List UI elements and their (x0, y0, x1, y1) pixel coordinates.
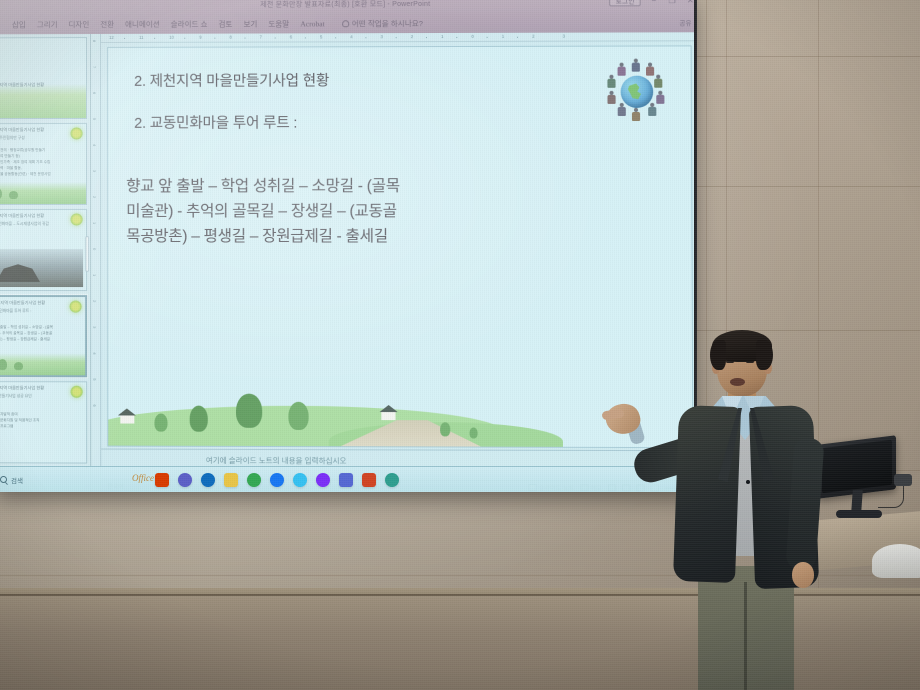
cable (878, 486, 904, 508)
thumb-title: 1. 제천지역 마을만들기사업 현황 (0, 82, 70, 88)
tell-me-search[interactable]: 어떤 작업을 하시나요? (342, 18, 423, 29)
vruler-tick: 4 (92, 352, 97, 354)
tab-transitions[interactable]: 전환 (100, 18, 114, 29)
globe-with-people-icon (605, 61, 668, 124)
thumb-line-3: 목공방촌) – 평생길 – 장원급제길 - 출세길 (0, 337, 77, 343)
notes-placeholder: 여기에 슬라이드 노트의 내용을 입력하십시오 (206, 455, 347, 466)
office-logo-icon[interactable]: Office (132, 473, 146, 487)
teams-icon[interactable] (178, 473, 192, 487)
vruler-tick: 1 (92, 222, 97, 224)
tab-acrobat[interactable]: Acrobat (300, 19, 324, 28)
thumb-line-2: 미술관) - 추억의 골목길 – 장생길 – (교동골 (0, 331, 77, 337)
kakao-icon[interactable] (316, 473, 330, 487)
spiral-icon[interactable] (385, 473, 399, 487)
presenter-jacket-left (673, 405, 741, 583)
vruler-tick: 2 (92, 300, 97, 302)
office-icon[interactable] (155, 473, 169, 487)
vruler-tick: 7 (92, 66, 97, 68)
taskbar-search[interactable]: 검색 (0, 475, 90, 485)
vruler-tick: 6 (92, 92, 97, 94)
thumb-line-2: · 주민 참여 만들기 등) (0, 154, 78, 160)
thumb-line-3: · 주민 대인가족 · 제조 참여 계획 기초 수립 (0, 160, 78, 166)
body-line-2: 미술관) - 추억의 골목길 – 장생길 – (교동골 (126, 199, 665, 224)
window-title: 제천 문화만장 발표자료(최종) [호환 모드] - PowerPoint (260, 0, 430, 9)
thumb-subtitle: 2. 교동민화마을 투어 루트 : (0, 309, 71, 315)
thumb-photo (0, 249, 83, 287)
presenter-leg-seam (744, 582, 747, 690)
hruler-tick: 3 (563, 34, 565, 39)
hruler-tick: 1 (502, 34, 504, 39)
hruler-tick: 2 (411, 34, 413, 39)
presenter-hair-side-right (756, 340, 773, 370)
hruler-tick: 12 (109, 35, 114, 40)
powerpoint-icon[interactable] (362, 473, 376, 487)
slide-canvas[interactable]: 2. 제천지역 마을만들기사업 현황 2. 교동민화마을 투어 루트 : 향교 … (107, 45, 693, 448)
thumb-subtitle: 3. 마을만들기사업 성공 요인 (0, 394, 72, 400)
thumbnail-scrollbar[interactable] (85, 236, 89, 272)
conference-room-scene: 제천 문화만장 발표자료(최종) [호환 모드] - PowerPoint 로그… (0, 0, 920, 690)
vertical-ruler: 8 7 6 5 4 3 2 1 0 1 2 3 4 5 6 (91, 34, 101, 492)
camera-device (894, 474, 912, 486)
hruler-tick: 0 (471, 34, 473, 39)
hruler-tick: 1 (441, 34, 443, 39)
tab-view[interactable]: 보기 (243, 18, 257, 29)
vruler-tick: 4 (92, 144, 97, 146)
hruler-tick: 7 (260, 35, 262, 40)
slide-subtitle[interactable]: 2. 교동민화마을 투어 루트 : (134, 112, 297, 133)
file-explorer-icon[interactable] (224, 473, 238, 487)
projection-screen: 제천 문화만장 발표자료(최종) [호환 모드] - PowerPoint 로그… (0, 0, 694, 492)
taskbar-icon-row: Office (90, 473, 399, 487)
thumb-title: 2. 제천지역 마을만들기사업 현황 (0, 385, 70, 391)
thumb-subtitle: 1. 교동민화마을 – 도시재생사업의 귀감 (0, 222, 72, 228)
thumb-subtitle: 1. 마을 주민협의만 구성 (0, 136, 72, 142)
hruler-tick: 3 (381, 34, 383, 39)
slide-body-text[interactable]: 향교 앞 출발 – 학업 성취길 – 소망길 - (골목 미술관) - 추억의 … (126, 173, 665, 249)
lightbulb-icon (342, 20, 349, 27)
tell-me-placeholder: 어떤 작업을 하시나요? (352, 18, 423, 29)
editor-work-area: 1. 제천지역 마을만들기사업 현황 1. 제천지역 마을만들기사업 현황 1.… (0, 32, 694, 492)
thumbnail-slide-2[interactable]: 1. 제천지역 마을만들기사업 현황 1. 마을 주민협의만 구성 · 마을 발… (0, 123, 87, 205)
tab-design[interactable]: 디자인 (69, 19, 90, 30)
sign-in-button[interactable]: 로그인 (610, 0, 641, 6)
thumbnail-slide-4[interactable]: 2. 제천지역 마을만들기사업 현황 2. 교동민화마을 투어 루트 : 향교 … (0, 295, 87, 377)
thumb-illustration (0, 84, 86, 118)
powerpoint-window: 제천 문화만장 발표자료(최종) [호환 모드] - PowerPoint 로그… (0, 0, 694, 492)
slide-title[interactable]: 2. 제천지역 마을만들기사업 현황 (134, 69, 329, 90)
tab-help[interactable]: 도움말 (268, 18, 289, 29)
vruler-tick: 2 (92, 196, 97, 198)
thumb-line-1: · 주민의 자발적 참여 (0, 412, 78, 418)
hruler-tick: 4 (350, 34, 352, 39)
slide-edit-region: 12 11 10 9 8 7 6 5 4 3 2 1 0 1 2 (101, 32, 694, 492)
presenter (640, 330, 870, 690)
share-button[interactable]: 공유 (679, 17, 691, 27)
slide-thumbnail-pane[interactable]: 1. 제천지역 마을만들기사업 현황 1. 제천지역 마을만들기사업 현황 1.… (0, 34, 91, 492)
ribbon-tab-row: 삽입 그리기 디자인 전환 애니메이션 슬라이드 쇼 검토 보기 도움말 Acr… (0, 12, 694, 34)
tab-insert[interactable]: 삽입 (12, 19, 26, 30)
thumbnail-slide-5[interactable]: 2. 제천지역 마을만들기사업 현황 3. 마을만들기사업 성공 요인 · 주민… (0, 381, 87, 463)
hruler-tick: 11 (139, 35, 143, 40)
thumb-line-5: · 주민 자율 공동활동(관련) · 제천 운영사업 (0, 172, 78, 178)
vruler-tick: 5 (92, 118, 97, 120)
thumb-title: 2. 제천지역 마을만들기사업 현황 (0, 300, 69, 306)
app-icon[interactable] (339, 473, 353, 487)
hruler-tick: 8 (229, 35, 231, 40)
tab-review[interactable]: 검토 (218, 18, 232, 29)
thumb-line-3: · 지속적 프로그램 (0, 424, 78, 430)
hruler-tick: 5 (320, 34, 322, 39)
vruler-tick: 5 (92, 378, 97, 380)
minimize-icon[interactable]: − (649, 0, 659, 6)
window-controls: 로그인 − ❐ ✕ (610, 0, 694, 6)
hruler-tick: 6 (290, 34, 292, 39)
thumb-illustration (0, 182, 86, 204)
close-icon[interactable]: ✕ (685, 0, 694, 6)
thumbnail-slide-1[interactable]: 1. 제천지역 마을만들기사업 현황 (0, 37, 87, 119)
body-line-1: 향교 앞 출발 – 학업 성취길 – 소망길 - (골목 (126, 173, 665, 199)
vruler-tick: 3 (92, 170, 97, 172)
thumb-illustration (0, 353, 85, 375)
vruler-tick: 1 (92, 274, 97, 276)
tab-draw[interactable]: 그리기 (37, 19, 58, 30)
thumb-line-2: · 지역민 문화자원 및 적용적인 조직 (0, 418, 78, 424)
thumbnail-slide-3[interactable]: 2. 제천지역 마을만들기사업 현황 1. 교동민화마을 – 도시재생사업의 귀… (0, 209, 87, 291)
hruler-tick: 2 (532, 34, 534, 39)
thumb-title: 2. 제천지역 마을만들기사업 현황 (0, 213, 70, 219)
vruler-tick: 3 (92, 326, 97, 328)
thumb-line-4: · 주민 협력 · 마을 활동, (0, 166, 78, 172)
windows-taskbar: 검색 Office (0, 466, 685, 492)
search-icon (0, 476, 7, 483)
tab-animations[interactable]: 애니메이션 (125, 18, 160, 29)
hruler-tick: 9 (199, 35, 201, 40)
presenter-jacket-button (746, 480, 750, 484)
tab-slideshow[interactable]: 슬라이드 쇼 (171, 18, 208, 29)
vruler-tick: 8 (92, 40, 97, 42)
thumb-line-1: · 마을 발전의 · 행정교류(공무원 만들기 (0, 148, 78, 154)
slide-canvas-wrapper: 2. 제천지역 마을만들기사업 현황 2. 교동민화마을 투어 루트 : 향교 … (101, 41, 694, 450)
thumb-line-1: 향교 앞 출발 – 학업 성취길 – 소망길 - (골목 (0, 325, 77, 331)
vruler-tick: 6 (92, 404, 97, 406)
hruler-tick: 10 (169, 35, 174, 40)
body-line-3: 목공방촌) – 평생길 – 장원급제길 - 출세길 (126, 224, 665, 249)
onedrive-icon[interactable] (201, 473, 215, 487)
facebook-icon[interactable] (270, 473, 284, 487)
presenter-hair-side-left (710, 340, 726, 370)
chrome-icon[interactable] (247, 473, 261, 487)
chair (872, 544, 920, 578)
thumb-title: 1. 제천지역 마을만들기사업 현황 (0, 127, 70, 133)
presenter-hand-right (792, 562, 814, 588)
maximize-icon[interactable]: ❐ (667, 0, 677, 6)
presenter-mouth (730, 378, 745, 386)
edge-icon[interactable] (293, 473, 307, 487)
search-placeholder: 검색 (11, 475, 23, 485)
vruler-tick: 0 (92, 248, 97, 250)
